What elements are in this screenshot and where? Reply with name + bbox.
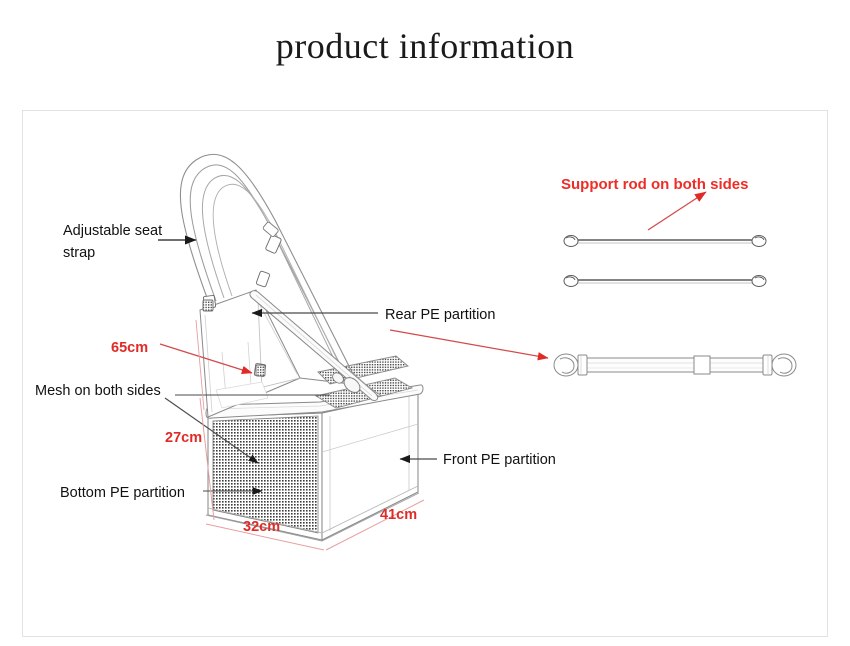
dimension-label-depth: 27cm <box>165 427 202 449</box>
label-rear-pe-partition: Rear PE partition <box>385 304 495 326</box>
label-support-rod: Support rod on both sides <box>561 173 749 196</box>
dimension-label-length: 41cm <box>380 504 417 526</box>
product-information-page: product information <box>0 0 850 646</box>
label-bottom-pe-partition: Bottom PE partition <box>60 482 185 504</box>
label-adjustable-seat-strap: Adjustable seat strap <box>63 220 162 265</box>
dimension-label-height: 65cm <box>111 337 148 359</box>
label-mesh-on-both-sides: Mesh on both sides <box>35 380 161 402</box>
dimension-label-width: 32cm <box>243 516 280 538</box>
page-title: product information <box>0 25 850 67</box>
label-front-pe-partition: Front PE partition <box>443 449 556 471</box>
